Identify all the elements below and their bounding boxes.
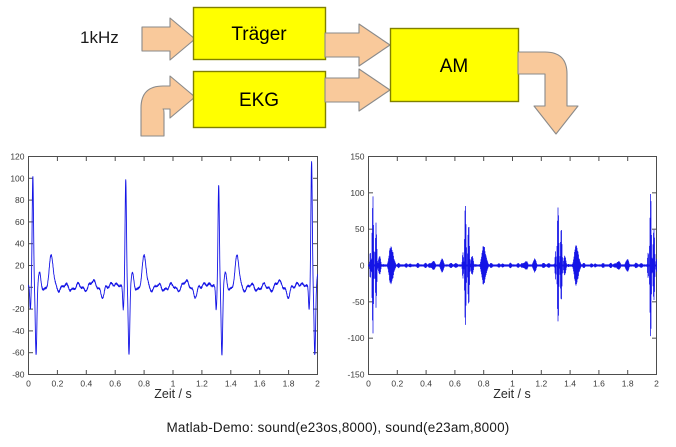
arrow-curved-to-ekg (141, 76, 195, 136)
x-tick-label: 2 (654, 379, 659, 389)
arrow-input-to-traeger (142, 18, 195, 60)
y-tick-label: 60 (15, 217, 25, 227)
x-tick-label: 1.8 (622, 379, 634, 389)
y-tick-label: -20 (12, 304, 25, 314)
y-tick-label: 0 (360, 261, 365, 271)
arrow-ekg-to-am (325, 69, 390, 111)
y-tick-label: 100 (10, 173, 24, 183)
ecg-plot: 00.20.40.60.811.21.41.61.82 -80-60-40-20… (2, 148, 338, 403)
y-tick-label: 150 (350, 152, 364, 162)
x-tick-label: 1.6 (593, 379, 605, 389)
x-tick-label: 0.4 (80, 379, 92, 389)
y-tick-label: 50 (355, 224, 365, 234)
y-tick-label: 120 (10, 152, 24, 162)
am-plot: 00.20.40.60.811.21.41.61.82 -150-100-500… (342, 148, 676, 403)
y-tick-label: 100 (350, 188, 364, 198)
arrow-am-output (518, 52, 578, 134)
y-tick-label: -40 (12, 326, 25, 336)
am-y-ticklabels: -150-100-50050100150 (347, 152, 364, 380)
x-tick-label: 0.4 (420, 379, 432, 389)
block-traeger-label: Träger (231, 24, 287, 45)
y-tick-label: -80 (12, 370, 25, 380)
x-tick-label: 1.2 (196, 379, 208, 389)
x-tick-label: 1.4 (225, 379, 237, 389)
y-tick-label: 80 (15, 195, 25, 205)
ecg-plot-frame (29, 157, 318, 375)
y-tick-label: 0 (20, 282, 25, 292)
x-tick-label: 0.6 (109, 379, 121, 389)
block-ekg-label: EKG (239, 90, 279, 111)
x-tick-label: 1.6 (254, 379, 266, 389)
input-frequency-label: 1kHz (80, 28, 119, 47)
x-tick-label: 0.2 (51, 379, 63, 389)
y-tick-label: 40 (15, 239, 25, 249)
ecg-x-axis-label: Zeit / s (154, 387, 192, 401)
x-tick-label: 0 (366, 379, 371, 389)
x-tick-label: 0 (26, 379, 31, 389)
caption-text: Matlab-Demo: sound(e23os,8000), sound(e2… (0, 420, 676, 435)
x-tick-label: 2 (315, 379, 320, 389)
x-tick-label: 1.4 (564, 379, 576, 389)
y-tick-label: -150 (347, 370, 364, 380)
am-x-axis-label: Zeit / s (493, 387, 531, 401)
x-tick-label: 0.8 (478, 379, 490, 389)
x-tick-label: 0.6 (449, 379, 461, 389)
x-tick-label: 1.2 (535, 379, 547, 389)
block-am-label: AM (440, 56, 469, 77)
y-tick-label: 20 (15, 261, 25, 271)
ecg-y-ticklabels: -80-60-40-20020406080100120 (10, 152, 24, 380)
y-tick-label: -60 (12, 348, 25, 358)
x-tick-label: 0.2 (391, 379, 403, 389)
block-diagram: 1kHz Träger EKG AM (0, 0, 676, 145)
y-tick-label: -50 (352, 297, 365, 307)
x-tick-label: 1.8 (283, 379, 295, 389)
y-tick-label: -100 (347, 333, 364, 343)
x-tick-label: 0.8 (138, 379, 150, 389)
arrow-traeger-to-am (325, 24, 390, 66)
